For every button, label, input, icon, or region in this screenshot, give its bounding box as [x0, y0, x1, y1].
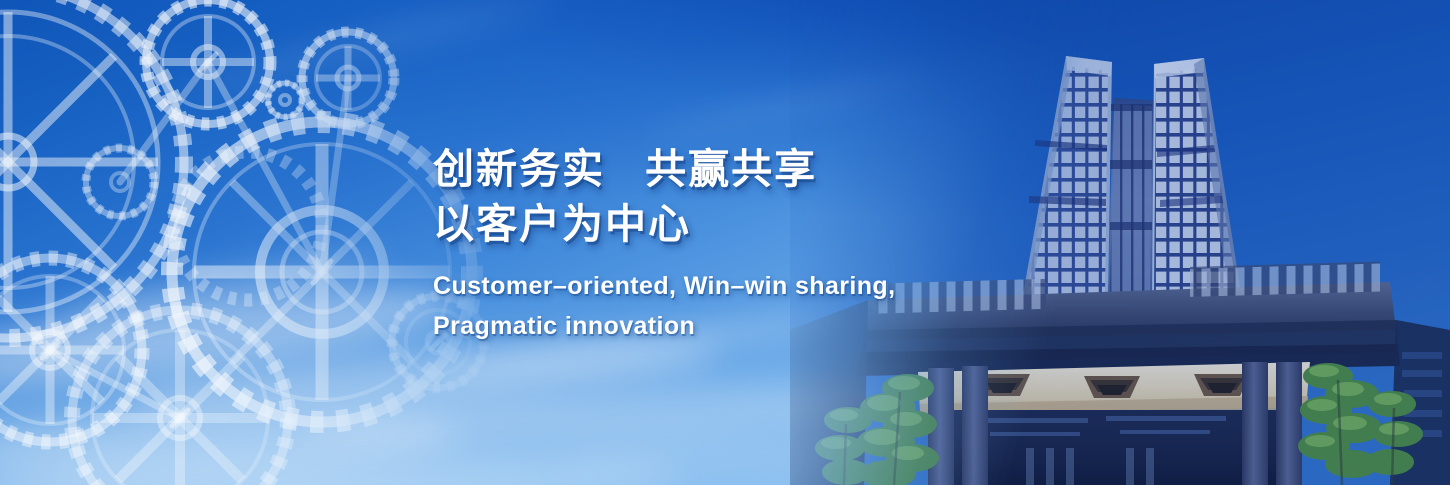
- subtitle-line-1: Customer–oriented, Win–win sharing,: [433, 266, 993, 306]
- banner-copy: 创新务实 共赢共享 以客户为中心 Customer–oriented, Win–…: [433, 142, 993, 346]
- headline-line-2: 以客户为中心: [433, 197, 993, 252]
- hero-banner: 创新务实 共赢共享 以客户为中心 Customer–oriented, Win–…: [0, 0, 1450, 485]
- headline-line-1: 创新务实 共赢共享: [433, 142, 993, 197]
- subtitle-line-2: Pragmatic innovation: [433, 306, 993, 346]
